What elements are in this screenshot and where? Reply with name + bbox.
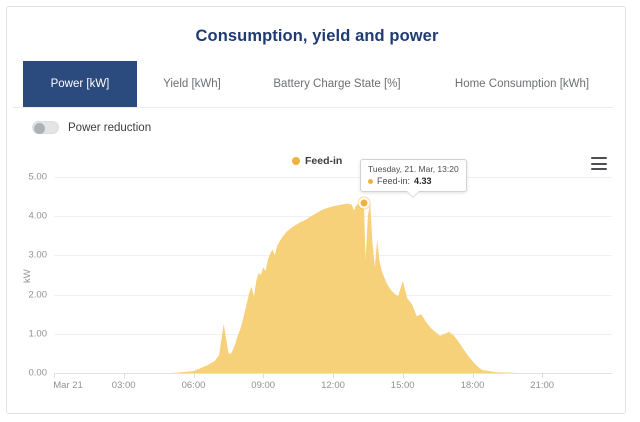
x-tick-mark: [263, 373, 264, 378]
x-tick-label: 18:00: [461, 380, 485, 391]
chart-card: Consumption, yield and power Power [kW] …: [6, 6, 626, 414]
x-tick-mark: [54, 373, 55, 378]
x-tick-label: 03:00: [112, 380, 136, 391]
x-tick-label: 12:00: [321, 380, 345, 391]
tab-label: Yield [kWh]: [163, 78, 221, 90]
tab-yield[interactable]: Yield [kWh]: [137, 61, 247, 107]
series-area-feed-in: [54, 177, 612, 373]
tab-power[interactable]: Power [kW]: [23, 61, 137, 107]
tooltip-arrow: [407, 191, 419, 197]
tab-divider: [13, 107, 613, 108]
x-tick-mark: [333, 373, 334, 378]
tab-label: Home Consumption [kWh]: [455, 78, 589, 90]
highlighted-data-point[interactable]: [358, 198, 369, 209]
power-chart: Feed-in kW 5.00 4.00 3.00 2.00 1.00 0.00: [7, 147, 627, 415]
chart-legend: Feed-in: [292, 155, 342, 167]
legend-marker-feed-in: [292, 157, 300, 165]
x-tick-label: 06:00: [182, 380, 206, 391]
x-tick-mark: [473, 373, 474, 378]
tooltip-series-row: Feed-in: 4.33: [368, 176, 459, 186]
tab-label: Power [kW]: [51, 78, 110, 90]
y-tick-label: 0.00: [29, 368, 48, 379]
x-tick-label: 15:00: [391, 380, 415, 391]
x-tick-mark: [194, 373, 195, 378]
y-tick-label: 4.00: [29, 211, 48, 222]
y-tick-label: 3.00: [29, 250, 48, 261]
x-tick-label: 21:00: [530, 380, 554, 391]
tab-battery-charge-state[interactable]: Battery Charge State [%]: [247, 61, 427, 107]
y-tick-label: 5.00: [29, 172, 48, 183]
power-reduction-switch[interactable]: [32, 121, 59, 134]
chart-tooltip: Tuesday, 21. Mar, 13:20 Feed-in: 4.33: [360, 159, 467, 192]
y-tick-label: 2.00: [29, 289, 48, 300]
plot-area: 5.00 4.00 3.00 2.00 1.00 0.00 Mar 21 03:…: [54, 177, 612, 373]
x-tick-mark: [403, 373, 404, 378]
legend-label-feed-in[interactable]: Feed-in: [305, 155, 342, 167]
tooltip-date: Tuesday, 21. Mar, 13:20: [368, 164, 459, 174]
tooltip-series-name: Feed-in:: [377, 176, 410, 186]
tab-label: Battery Charge State [%]: [273, 78, 400, 90]
x-tick-mark: [542, 373, 543, 378]
page-title: Consumption, yield and power: [7, 27, 627, 46]
x-tick-label: 09:00: [251, 380, 275, 391]
tab-home-consumption[interactable]: Home Consumption [kWh]: [427, 61, 617, 107]
power-reduction-label: Power reduction: [68, 122, 151, 134]
x-tick-label: Mar 21: [53, 380, 83, 391]
tooltip-value: 4.33: [414, 176, 432, 186]
hamburger-menu-icon[interactable]: [591, 157, 607, 170]
switch-knob: [34, 123, 45, 134]
y-axis-title: kW: [22, 269, 33, 283]
power-reduction-toggle-row: Power reduction: [32, 121, 151, 134]
tab-bar: Power [kW] Yield [kWh] Battery Charge St…: [7, 61, 627, 108]
y-tick-label: 1.00: [29, 328, 48, 339]
tooltip-marker-icon: [368, 179, 373, 184]
x-tick-mark: [124, 373, 125, 378]
